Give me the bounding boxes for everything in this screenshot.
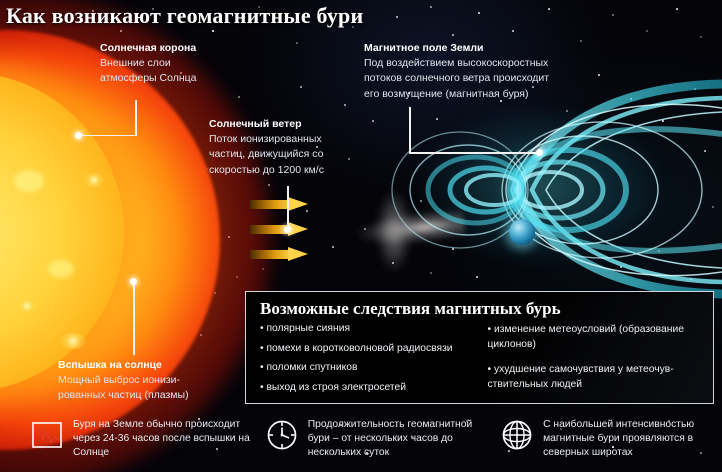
- callout-solar-wind: Солнечный ветер Поток ионизированных час…: [209, 117, 324, 178]
- consequences-left-column: • полярные сияния • помехи в коротковолн…: [260, 322, 476, 400]
- solar-wind-arrow: [250, 197, 308, 212]
- solar-wind-arrow: [250, 247, 308, 262]
- callout-earth-magnetic-field: Магнитное поле Земли Под воздействием вы…: [364, 41, 549, 102]
- callout-body: Внешние слои атмосферы Солнца: [100, 56, 196, 86]
- magnetosphere-field-lines: [380, 78, 722, 298]
- consequences-box: Возможные следствия магнитных бурь • пол…: [245, 291, 714, 404]
- star: [512, 30, 514, 32]
- clock-icon: [265, 418, 299, 452]
- footer-item-text: Продолжительность геомагнит­ной бури – о…: [308, 418, 494, 460]
- star: [348, 158, 350, 160]
- star: [646, 30, 648, 32]
- consequences-title: Возможные следствия магнитных бурь: [246, 292, 713, 322]
- callout-heading: Вспышка на солнце: [58, 358, 189, 373]
- star: [580, 40, 582, 42]
- leader-line-horizontal: [80, 135, 136, 137]
- footer-facts: Буря на Земле обычно проис­ходит через 2…: [0, 412, 722, 472]
- footer-item-storm-delay: Буря на Земле обычно проис­ходит через 2…: [0, 412, 255, 472]
- star: [478, 12, 480, 14]
- star: [548, 8, 550, 10]
- list-item: • ухудшение самочувствия у метеочув­стви…: [488, 363, 704, 392]
- star: [612, 14, 614, 16]
- star: [676, 8, 678, 10]
- page-title: Как возникают геомагнитные бури: [6, 3, 363, 29]
- leader-line-vertical: [133, 283, 135, 355]
- callout-body: Мощный выброс иониз­и- рованных частиц (…: [58, 373, 189, 403]
- sun-flare-spot: [60, 333, 86, 349]
- star: [430, 6, 432, 8]
- list-item: • полярные сияния: [260, 322, 476, 337]
- list-item: • изменение метеоусловий (образование ци…: [488, 323, 704, 352]
- infographic-root: Как возникают геомагнитные бури Солнечна…: [0, 0, 722, 472]
- footer-item-text: Буря на Земле обычно проис­ходит через 2…: [73, 418, 255, 460]
- solar-wind-arrow: [250, 222, 308, 237]
- consequences-right-column: • изменение метеоусловий (образование ци…: [488, 322, 704, 400]
- footer-item-storm-duration: Продолжительность геомагнит­ной бури – о…: [255, 412, 494, 472]
- footer-item-northern-latitudes: С наибольшей интенсивностью магнитные бу…: [494, 412, 722, 472]
- leader-line-horizontal: [409, 152, 539, 154]
- earth-globe: [509, 219, 535, 245]
- sun-granule: [14, 170, 44, 192]
- sun-flare-spot: [18, 300, 36, 312]
- callout-body: Под воздействием высокоскоростных потоко…: [364, 56, 549, 102]
- footer-item-text: С наибольшей интенсивностью магнитные бу…: [543, 418, 722, 460]
- star: [700, 36, 702, 38]
- star: [452, 34, 454, 36]
- list-item: • помехи в коротковолновой радиосвязи: [260, 342, 476, 357]
- leader-endpoint-dot: [75, 132, 82, 139]
- leader-endpoint-dot: [284, 226, 291, 233]
- callout-heading: Солнечный ветер: [209, 117, 324, 132]
- star: [372, 120, 374, 122]
- callout-solar-corona: Солнечная корона Внешние слои атмосферы …: [100, 41, 196, 87]
- chart-graph-icon: [30, 418, 64, 452]
- leader-endpoint-dot: [536, 149, 543, 156]
- callout-body: Поток ионизированных частиц, движущийся …: [209, 132, 324, 178]
- globe-icon: [500, 418, 534, 452]
- leader-line-vertical: [409, 107, 411, 153]
- callout-solar-flare: Вспышка на солнце Мощный выброс иониз­и-…: [58, 358, 189, 404]
- star: [300, 86, 302, 88]
- leader-line-vertical: [287, 186, 289, 231]
- star: [212, 30, 214, 32]
- sun-flare-spot: [84, 173, 104, 187]
- star: [296, 42, 298, 44]
- leader-endpoint-dot: [130, 278, 137, 285]
- star: [344, 104, 346, 106]
- list-item: • поломки спутников: [260, 361, 476, 376]
- callout-heading: Солнечная корона: [100, 41, 196, 56]
- callout-heading: Магнитное поле Земли: [364, 41, 549, 56]
- list-item: • выход из строя электросетей: [260, 381, 476, 396]
- star: [396, 16, 398, 18]
- star: [238, 96, 240, 98]
- leader-line-vertical: [135, 100, 137, 136]
- sun-granule: [48, 260, 74, 278]
- star: [268, 184, 270, 186]
